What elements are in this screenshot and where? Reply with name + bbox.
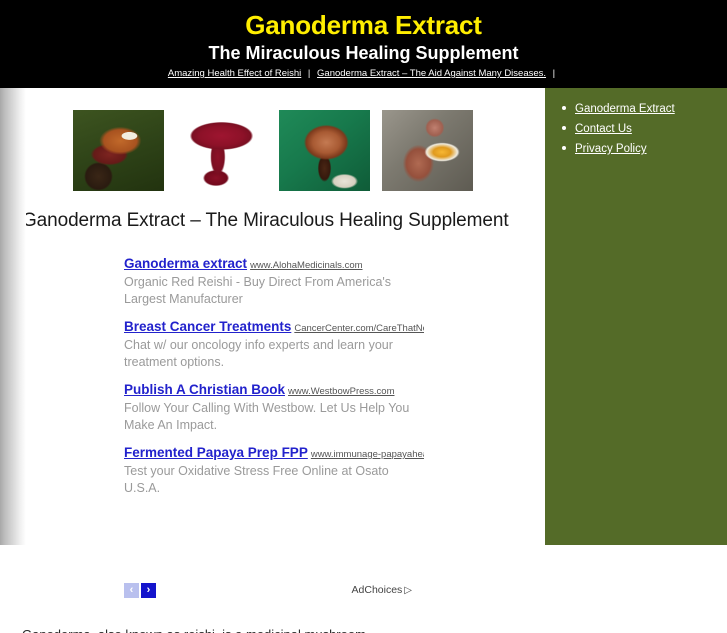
sidebar-link-label[interactable]: Privacy Policy: [575, 143, 647, 155]
ad-title-link[interactable]: Breast Cancer Treatments: [124, 319, 291, 334]
reishi-mushroom-photo-1: [73, 110, 164, 191]
sidebar-menu: Ganoderma Extract Contact Us Privacy Pol…: [545, 100, 727, 157]
adchoices-link[interactable]: AdChoices▷: [352, 584, 412, 596]
ad-footer-controls: ‹ › AdChoices▷: [124, 583, 424, 599]
ad-title-link[interactable]: Publish A Christian Book: [124, 382, 285, 397]
adchoices-label: AdChoices: [352, 584, 403, 596]
ad-description: Organic Red Reishi - Buy Direct From Ame…: [124, 274, 424, 308]
ad-item: Breast Cancer TreatmentsCancerCenter.com…: [124, 319, 424, 371]
sidebar-link-label[interactable]: Contact Us: [575, 123, 632, 135]
sidebar-link-label[interactable]: Ganoderma Extract: [575, 103, 675, 115]
header-navigation: Amazing Health Effect of Reishi | Ganode…: [0, 68, 727, 80]
ad-headline-row: Fermented Papaya Prep FPPwww.immunage-pa…: [124, 445, 424, 463]
ad-pagination: ‹ ›: [124, 583, 156, 598]
ad-item: Ganoderma extractwww.AlohaMedicinals.com…: [124, 256, 424, 308]
nav-link-aid-against-diseases[interactable]: Ganoderma Extract – The Aid Against Many…: [317, 68, 546, 79]
ad-item: Publish A Christian Bookwww.WestbowPress…: [124, 382, 424, 434]
banner-image-strip: [73, 110, 473, 191]
site-title: Ganoderma Extract: [0, 10, 727, 40]
reishi-mushroom-photo-4: [382, 110, 473, 191]
ad-url-link[interactable]: www.immunage-papayaheal: [311, 449, 424, 460]
ad-url-link[interactable]: CancerCenter.com/CareThatNev: [294, 323, 424, 334]
ad-title-link[interactable]: Ganoderma extract: [124, 256, 247, 271]
ad-description: Test your Oxidative Stress Free Online a…: [124, 463, 424, 497]
site-header: Ganoderma Extract The Miraculous Healing…: [0, 0, 727, 88]
ad-item: Fermented Papaya Prep FPPwww.immunage-pa…: [124, 445, 424, 497]
main-content: Ganoderma Extract – The Miraculous Heali…: [0, 88, 545, 545]
adchoices-triangle-icon: ▷: [404, 585, 412, 596]
article-body-text: Ganoderma, also known as reishi, is a me…: [22, 626, 522, 633]
advertisement-block: Ganoderma extractwww.AlohaMedicinals.com…: [124, 256, 424, 508]
ad-url-link[interactable]: www.WestbowPress.com: [288, 386, 394, 397]
page-title: Ganoderma Extract – The Miraculous Heali…: [22, 210, 509, 232]
ad-headline-row: Breast Cancer TreatmentsCancerCenter.com…: [124, 319, 424, 337]
reishi-mushroom-photo-3: [279, 110, 370, 191]
ad-title-link[interactable]: Fermented Papaya Prep FPP: [124, 445, 308, 460]
ad-headline-row: Ganoderma extractwww.AlohaMedicinals.com: [124, 256, 424, 274]
ad-headline-row: Publish A Christian Bookwww.WestbowPress…: [124, 382, 424, 400]
sidebar-item-contact-us[interactable]: Contact Us: [559, 120, 727, 137]
previous-ad-arrow-icon[interactable]: ‹: [124, 583, 139, 598]
ad-url-link[interactable]: www.AlohaMedicinals.com: [250, 260, 362, 271]
sidebar-item-ganoderma-extract[interactable]: Ganoderma Extract: [559, 100, 727, 117]
nav-separator-1: |: [304, 68, 314, 79]
nav-separator-2: |: [549, 68, 559, 79]
next-ad-arrow-icon[interactable]: ›: [141, 583, 156, 598]
ad-description: Chat w/ our oncology info experts and le…: [124, 337, 424, 371]
reishi-mushroom-photo-2: [176, 110, 267, 191]
left-edge-shadow: [0, 88, 26, 545]
page-body: Ganoderma Extract – The Miraculous Heali…: [0, 88, 727, 545]
sidebar: Ganoderma Extract Contact Us Privacy Pol…: [545, 88, 727, 545]
ad-description: Follow Your Calling With Westbow. Let Us…: [124, 400, 424, 434]
nav-link-amazing-health-effect[interactable]: Amazing Health Effect of Reishi: [168, 68, 301, 79]
sidebar-item-privacy-policy[interactable]: Privacy Policy: [559, 140, 727, 157]
site-subtitle: The Miraculous Healing Supplement: [0, 42, 727, 64]
